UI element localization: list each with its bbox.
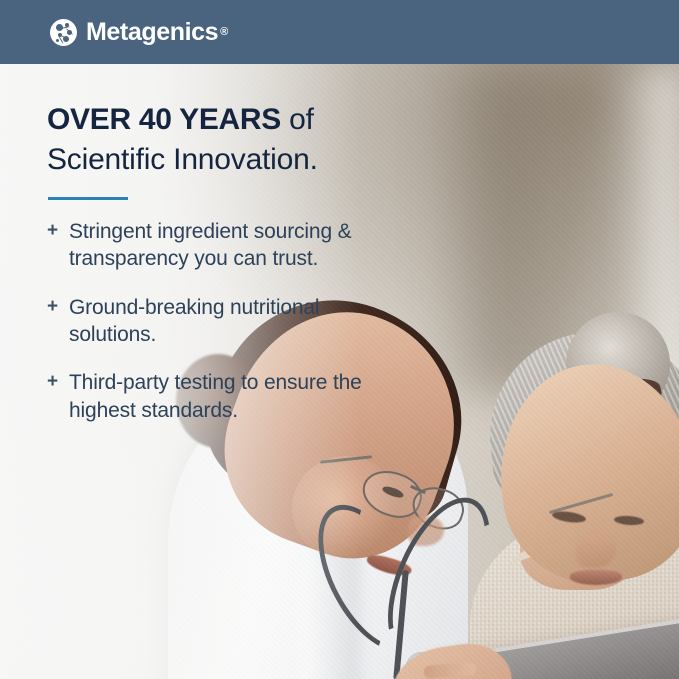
plus-icon: +: [47, 219, 69, 273]
registered-trademark-mark: ®: [220, 26, 228, 38]
patient-mouth: [570, 570, 622, 585]
molecule-circle-icon: [50, 19, 77, 46]
list-item: + Stringent ingredient sourcing & transp…: [47, 218, 377, 273]
list-item: + Third-party testing to ensure the high…: [47, 369, 377, 424]
advertisement-banner: Metagenics ® OVER 40 YEARS of Scientific…: [0, 0, 679, 679]
list-item: + Ground-breaking nutritional solutions.: [47, 294, 377, 349]
benefits-list: + Stringent ingredient sourcing & transp…: [47, 218, 377, 424]
plus-icon: +: [47, 295, 69, 349]
headline-line-2: Scientific Innovation.: [47, 143, 318, 176]
brand-logo[interactable]: Metagenics ®: [50, 19, 228, 46]
list-item-text: Third-party testing to ensure the highes…: [69, 369, 377, 424]
page-title: OVER 40 YEARS of Scientific Innovation.: [47, 100, 377, 179]
copy-block: OVER 40 YEARS of Scientific Innovation. …: [47, 100, 377, 424]
plus-icon: +: [47, 370, 69, 424]
list-item-text: Stringent ingredient sourcing & transpar…: [69, 218, 377, 273]
brand-header-bar: Metagenics ®: [0, 0, 679, 64]
divider: [48, 197, 128, 200]
headline-connector: of: [281, 103, 314, 136]
headline-emphasis: OVER 40 YEARS: [47, 103, 281, 136]
list-item-text: Ground-breaking nutritional solutions.: [69, 294, 377, 349]
brand-name: Metagenics: [86, 20, 218, 45]
